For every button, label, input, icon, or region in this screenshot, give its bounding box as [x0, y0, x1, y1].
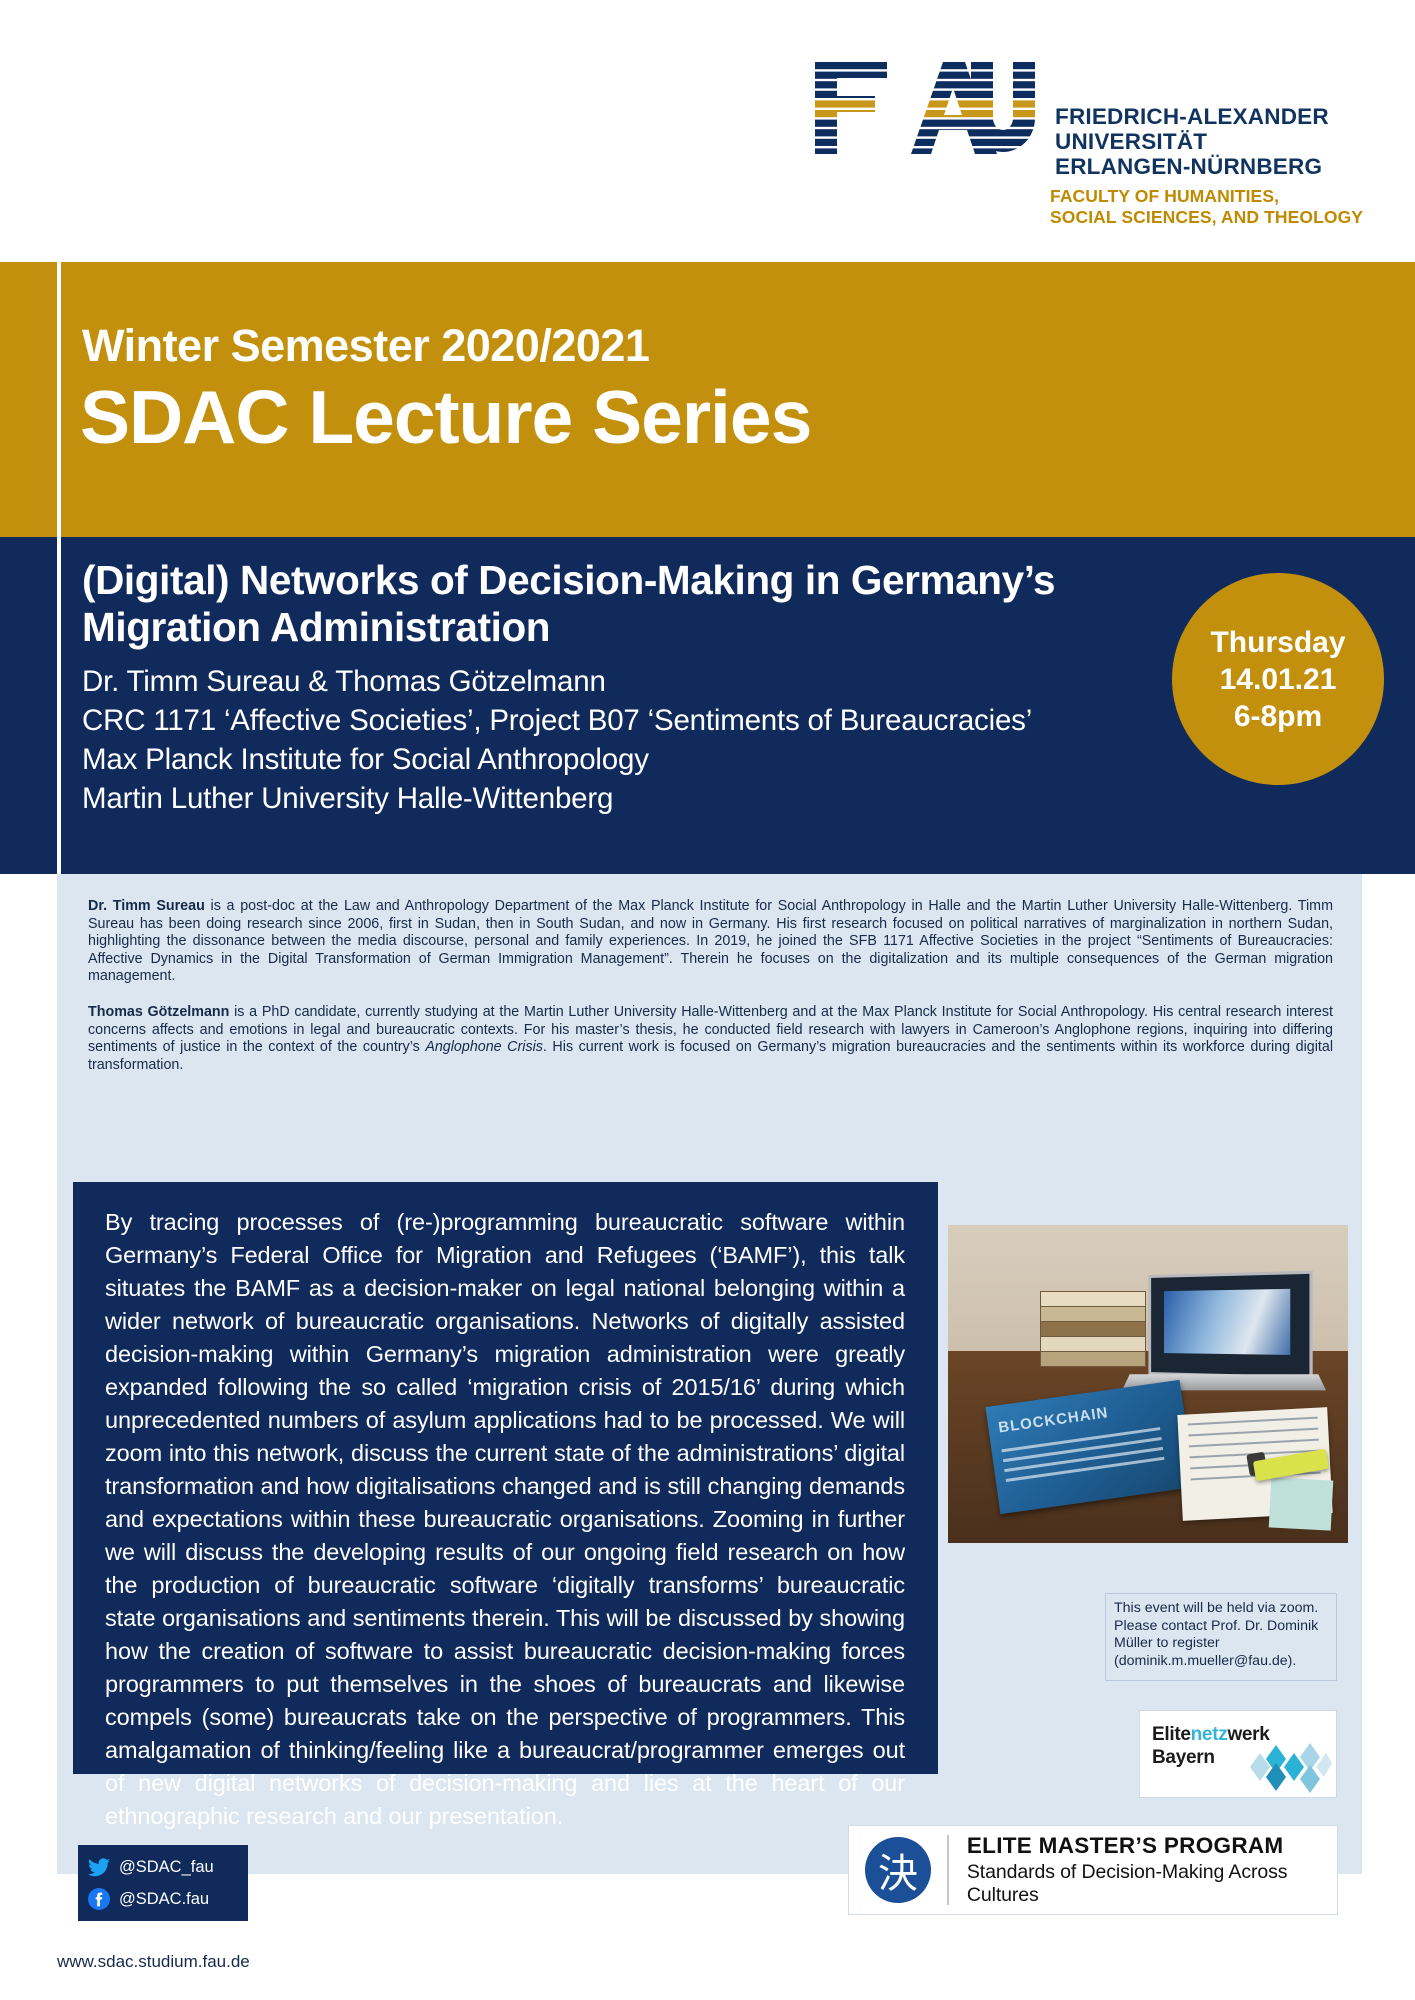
project-affiliation: CRC 1171 ‘Affective Societies’, Project … — [82, 701, 1032, 740]
institute-affiliation: Max Planck Institute for Social Anthropo… — [82, 740, 1032, 779]
date-value: 14.01.21 — [1220, 661, 1337, 698]
event-photo: BLOCKCHAIN — [948, 1225, 1348, 1543]
band-rule — [57, 262, 61, 537]
speaker-names: Dr. Timm Sureau & Thomas Götzelmann — [82, 662, 1032, 701]
facebook-handle: @SDAC.fau — [119, 1890, 209, 1909]
bio-goetzelmann: Thomas Götzelmann is a PhD candidate, cu… — [88, 1004, 1333, 1074]
photo-laptop-image — [1164, 1289, 1290, 1355]
university-line-3: ERLANGEN-NÜRNBERG — [1055, 154, 1329, 179]
date-weekday: Thursday — [1210, 624, 1345, 661]
photo-sticky-note — [1269, 1477, 1334, 1530]
university-line-2: UNIVERSITÄT — [1055, 129, 1329, 154]
elite-master-titles: ELITE MASTER’S PROGRAM Standards of Deci… — [967, 1833, 1337, 1907]
lecture-title: (Digital) Networks of Decision-Making in… — [82, 557, 1142, 651]
fau-logo — [815, 62, 1035, 154]
bio-goetzelmann-name: Thomas Götzelmann — [88, 1004, 229, 1020]
faculty-line-1: FACULTY OF HUMANITIES, — [1050, 186, 1363, 207]
date-time: 6-8pm — [1234, 698, 1322, 735]
logo-divider — [947, 1835, 949, 1905]
decision-seal-icon: 決 — [865, 1837, 931, 1903]
twitter-icon — [88, 1856, 110, 1878]
abstract-text: By tracing processes of (re-)programming… — [105, 1206, 905, 1833]
band-rule — [57, 537, 61, 874]
footer-url[interactable]: www.sdac.studium.fau.de — [57, 1952, 250, 1972]
bio-goetzelmann-italic: Anglophone Crisis — [425, 1039, 543, 1055]
speaker-block: Dr. Timm Sureau & Thomas Götzelmann CRC … — [82, 662, 1032, 818]
semester-label: Winter Semester 2020/2021 — [82, 320, 649, 372]
photo-flyer-lines — [1001, 1427, 1165, 1489]
enb-diamond-pattern — [1236, 1739, 1332, 1795]
series-title-band: Winter Semester 2020/2021 SDAC Lecture S… — [0, 262, 1415, 537]
elitenetzwerk-bayern-logo: Elitenetzwerk Bayern — [1139, 1710, 1337, 1798]
faculty-line-2: SOCIAL SCIENCES, AND THEOLOGY — [1050, 207, 1363, 228]
speaker-bios: Dr. Timm Sureau is a post-doc at the Law… — [88, 898, 1333, 1092]
abstract-box: By tracing processes of (re-)programming… — [73, 1182, 938, 1774]
series-title: SDAC Lecture Series — [80, 374, 811, 460]
photo-books — [1040, 1291, 1144, 1369]
university-affiliation: Martin Luther University Halle-Wittenber… — [82, 779, 1032, 818]
twitter-handle: @SDAC_fau — [119, 1858, 214, 1877]
bio-sureau-text: is a post-doc at the Law and Anthropolog… — [88, 898, 1333, 984]
bio-sureau: Dr. Timm Sureau is a post-doc at the Law… — [88, 898, 1333, 986]
program-subtitle: Standards of Decision-Making Across Cult… — [967, 1861, 1337, 1907]
university-line-1: FRIEDRICH-ALEXANDER — [1055, 104, 1329, 129]
enb-word-elite: Elite — [1152, 1724, 1191, 1745]
social-links: @SDAC_fau @SDAC.fau — [78, 1845, 248, 1921]
photo-laptop-screen — [1148, 1271, 1312, 1380]
program-name: ELITE MASTER’S PROGRAM — [967, 1833, 1337, 1859]
university-wordmark: FRIEDRICH-ALEXANDER UNIVERSITÄT ERLANGEN… — [1055, 104, 1329, 179]
faculty-name: FACULTY OF HUMANITIES, SOCIAL SCIENCES, … — [1050, 186, 1363, 228]
poster-header: FRIEDRICH-ALEXANDER UNIVERSITÄT ERLANGEN… — [0, 0, 1415, 262]
twitter-link[interactable]: @SDAC_fau — [88, 1851, 238, 1883]
registration-note: This event will be held via zoom. Please… — [1105, 1593, 1337, 1681]
date-badge: Thursday 14.01.21 6-8pm — [1172, 573, 1384, 785]
bio-sureau-name: Dr. Timm Sureau — [88, 898, 205, 914]
enb-word-netz: netz — [1191, 1724, 1228, 1745]
facebook-icon — [88, 1888, 110, 1910]
facebook-link[interactable]: @SDAC.fau — [88, 1883, 238, 1915]
photo-flyer-title: BLOCKCHAIN — [997, 1404, 1109, 1436]
elite-master-program-logo: 決 ELITE MASTER’S PROGRAM Standards of De… — [848, 1825, 1338, 1915]
